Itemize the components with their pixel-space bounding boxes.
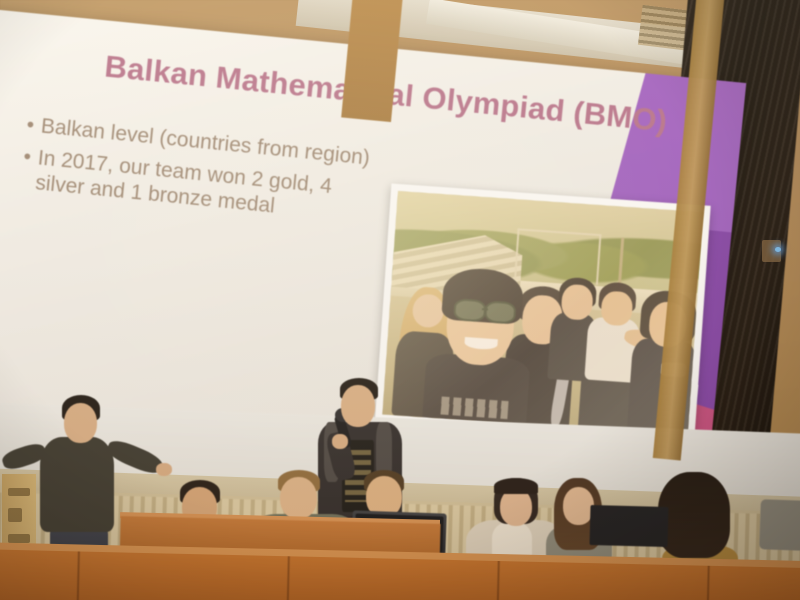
glasses-bridge — [482, 308, 488, 310]
person-head — [341, 385, 375, 427]
desk-seam — [496, 558, 500, 600]
photo-person-face — [600, 291, 633, 327]
glasses-icon — [453, 298, 486, 322]
screenshot-root: Balkan Mathematical Olympiad (BMO) • Bal… — [0, 0, 800, 600]
person-torso — [40, 437, 114, 532]
person-hand — [156, 463, 172, 476]
slide-bullet-list: • Balkan level (countries from region) •… — [19, 113, 386, 236]
person-hair — [658, 472, 730, 558]
desk-seam — [706, 563, 710, 600]
slide-photo-image — [382, 191, 703, 436]
led-indicator-icon — [775, 247, 781, 252]
person-head — [64, 403, 97, 443]
person-hand — [332, 434, 348, 449]
person-hair-fringe — [494, 478, 538, 494]
monitor — [589, 505, 668, 547]
desk-seam — [286, 553, 290, 600]
bullet-marker: • — [20, 145, 32, 195]
photo-goalpost — [514, 229, 601, 286]
bullet-marker: • — [25, 113, 35, 138]
desk-seam — [76, 548, 80, 600]
person-head — [280, 477, 317, 519]
glasses-icon — [484, 300, 517, 324]
